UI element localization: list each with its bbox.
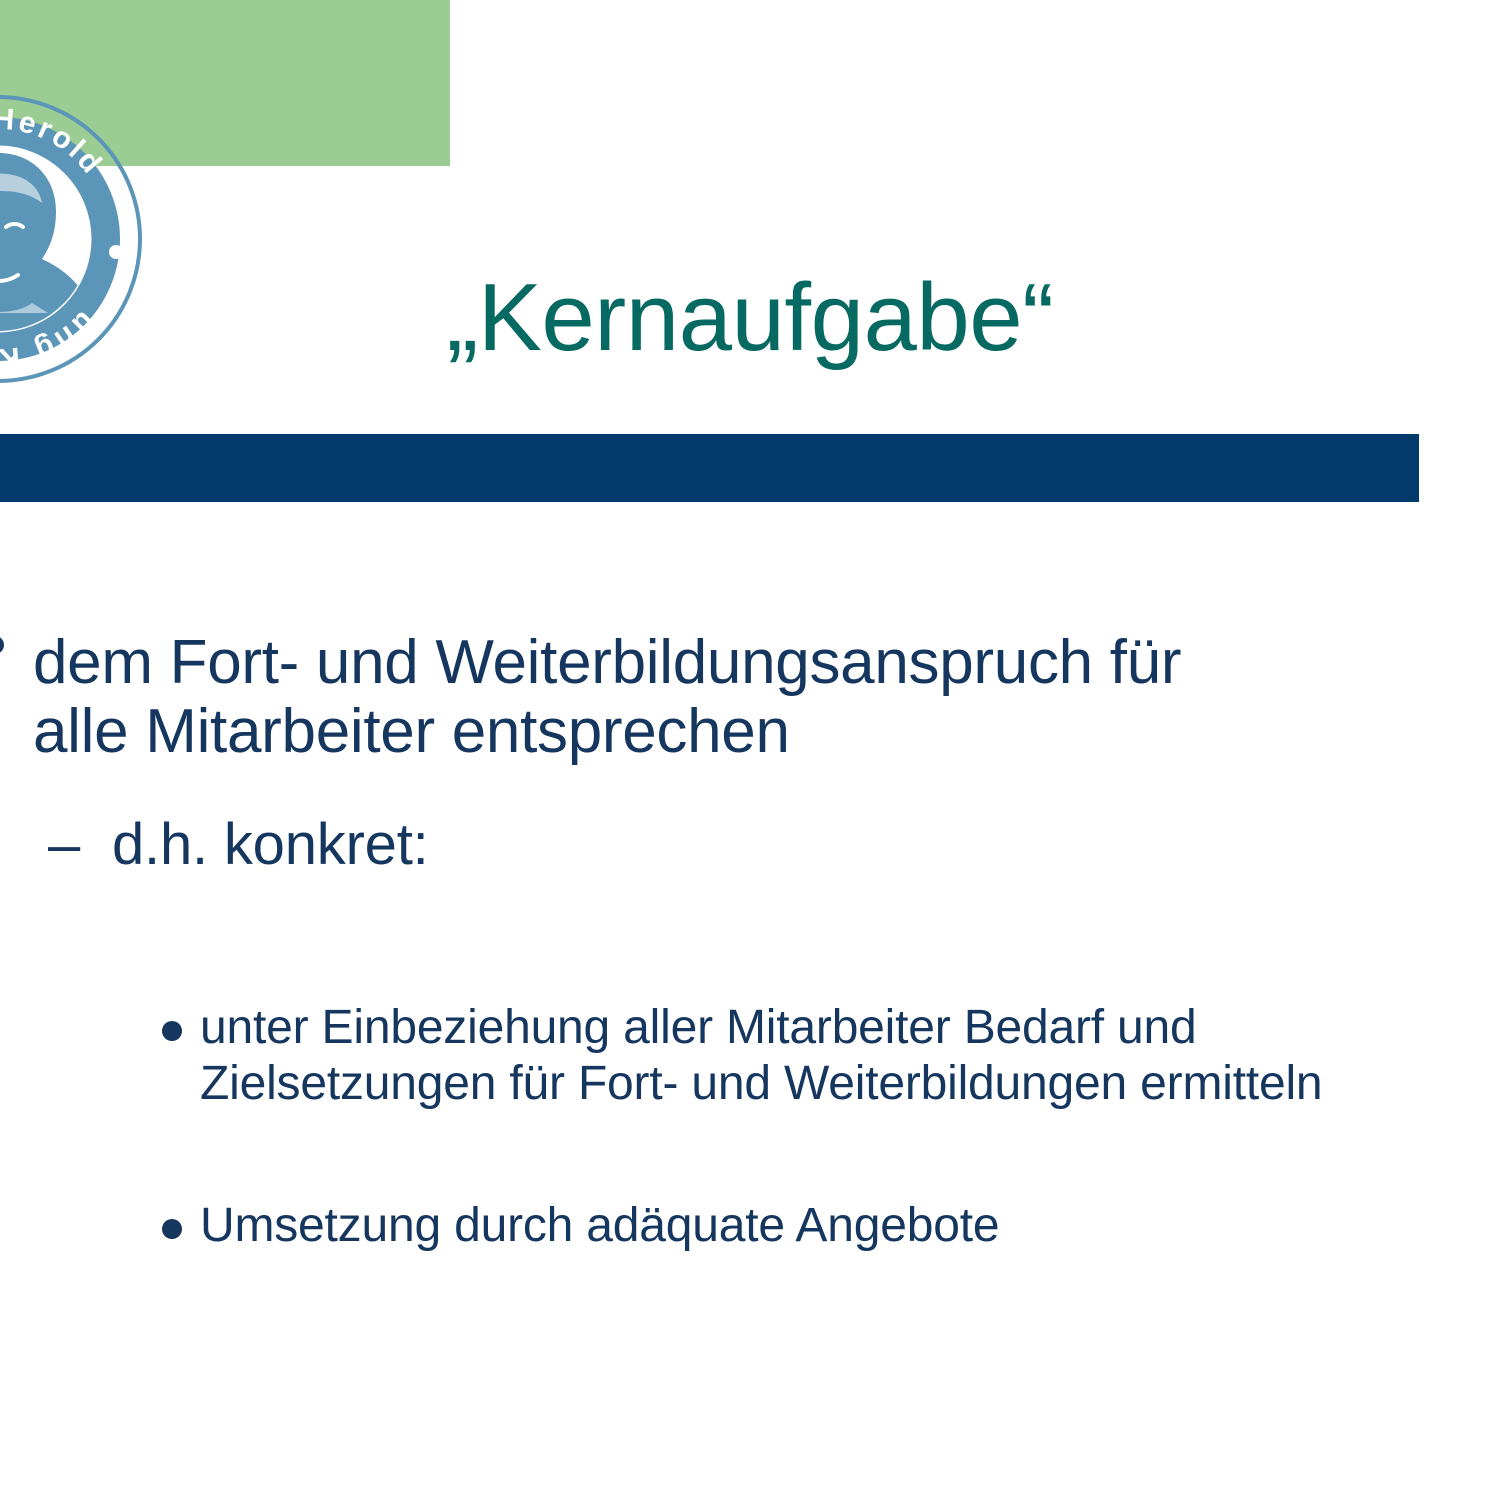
bullet-level1: dem Fort- und Weiterbildungsanspruch für…: [0, 628, 1500, 767]
bullet-level3-item-2-line1: Umsetzung durch adäquate Angebote: [200, 1198, 1500, 1254]
bullet-level3-item-1-line1: unter Einbeziehung aller Mitarbeiter Bed…: [200, 1000, 1500, 1056]
slide-title: „Kernaufgabe“: [0, 268, 1500, 369]
bullet-level3-item-1: unter Einbeziehung aller Mitarbeiter Bed…: [0, 1000, 1500, 1112]
bullet-level1-line1: dem Fort- und Weiterbildungsanspruch für: [33, 628, 1181, 697]
dash-marker-level2-icon: –: [48, 813, 78, 877]
bullet-level3-list: unter Einbeziehung aller Mitarbeiter Bed…: [0, 1000, 1500, 1254]
bullet-level2: – d.h. konkret:: [0, 813, 1500, 877]
slide-body: dem Fort- und Weiterbildungsanspruch für…: [0, 628, 1500, 1254]
seal-dot-separator: [109, 245, 123, 259]
bullet-level1-line2: alle Mitarbeiter entsprechen: [33, 697, 1500, 766]
bullet-marker-level1-icon: [0, 636, 4, 654]
bullet-dot-icon: [162, 1219, 182, 1239]
presentation-slide: nna Herold ung Karlstadt „Kernaufgabe“ d…: [0, 0, 1500, 1500]
bullet-dot-icon: [162, 1021, 182, 1041]
bullet-level3-item-2: Umsetzung durch adäquate Angebote: [0, 1198, 1500, 1254]
bullet-level2-text: d.h. konkret:: [48, 813, 429, 877]
title-underline-bar: [0, 434, 1419, 502]
bullet-level3-item-1-line2: Zielsetzungen für Fort- und Weiterbildun…: [200, 1056, 1500, 1112]
